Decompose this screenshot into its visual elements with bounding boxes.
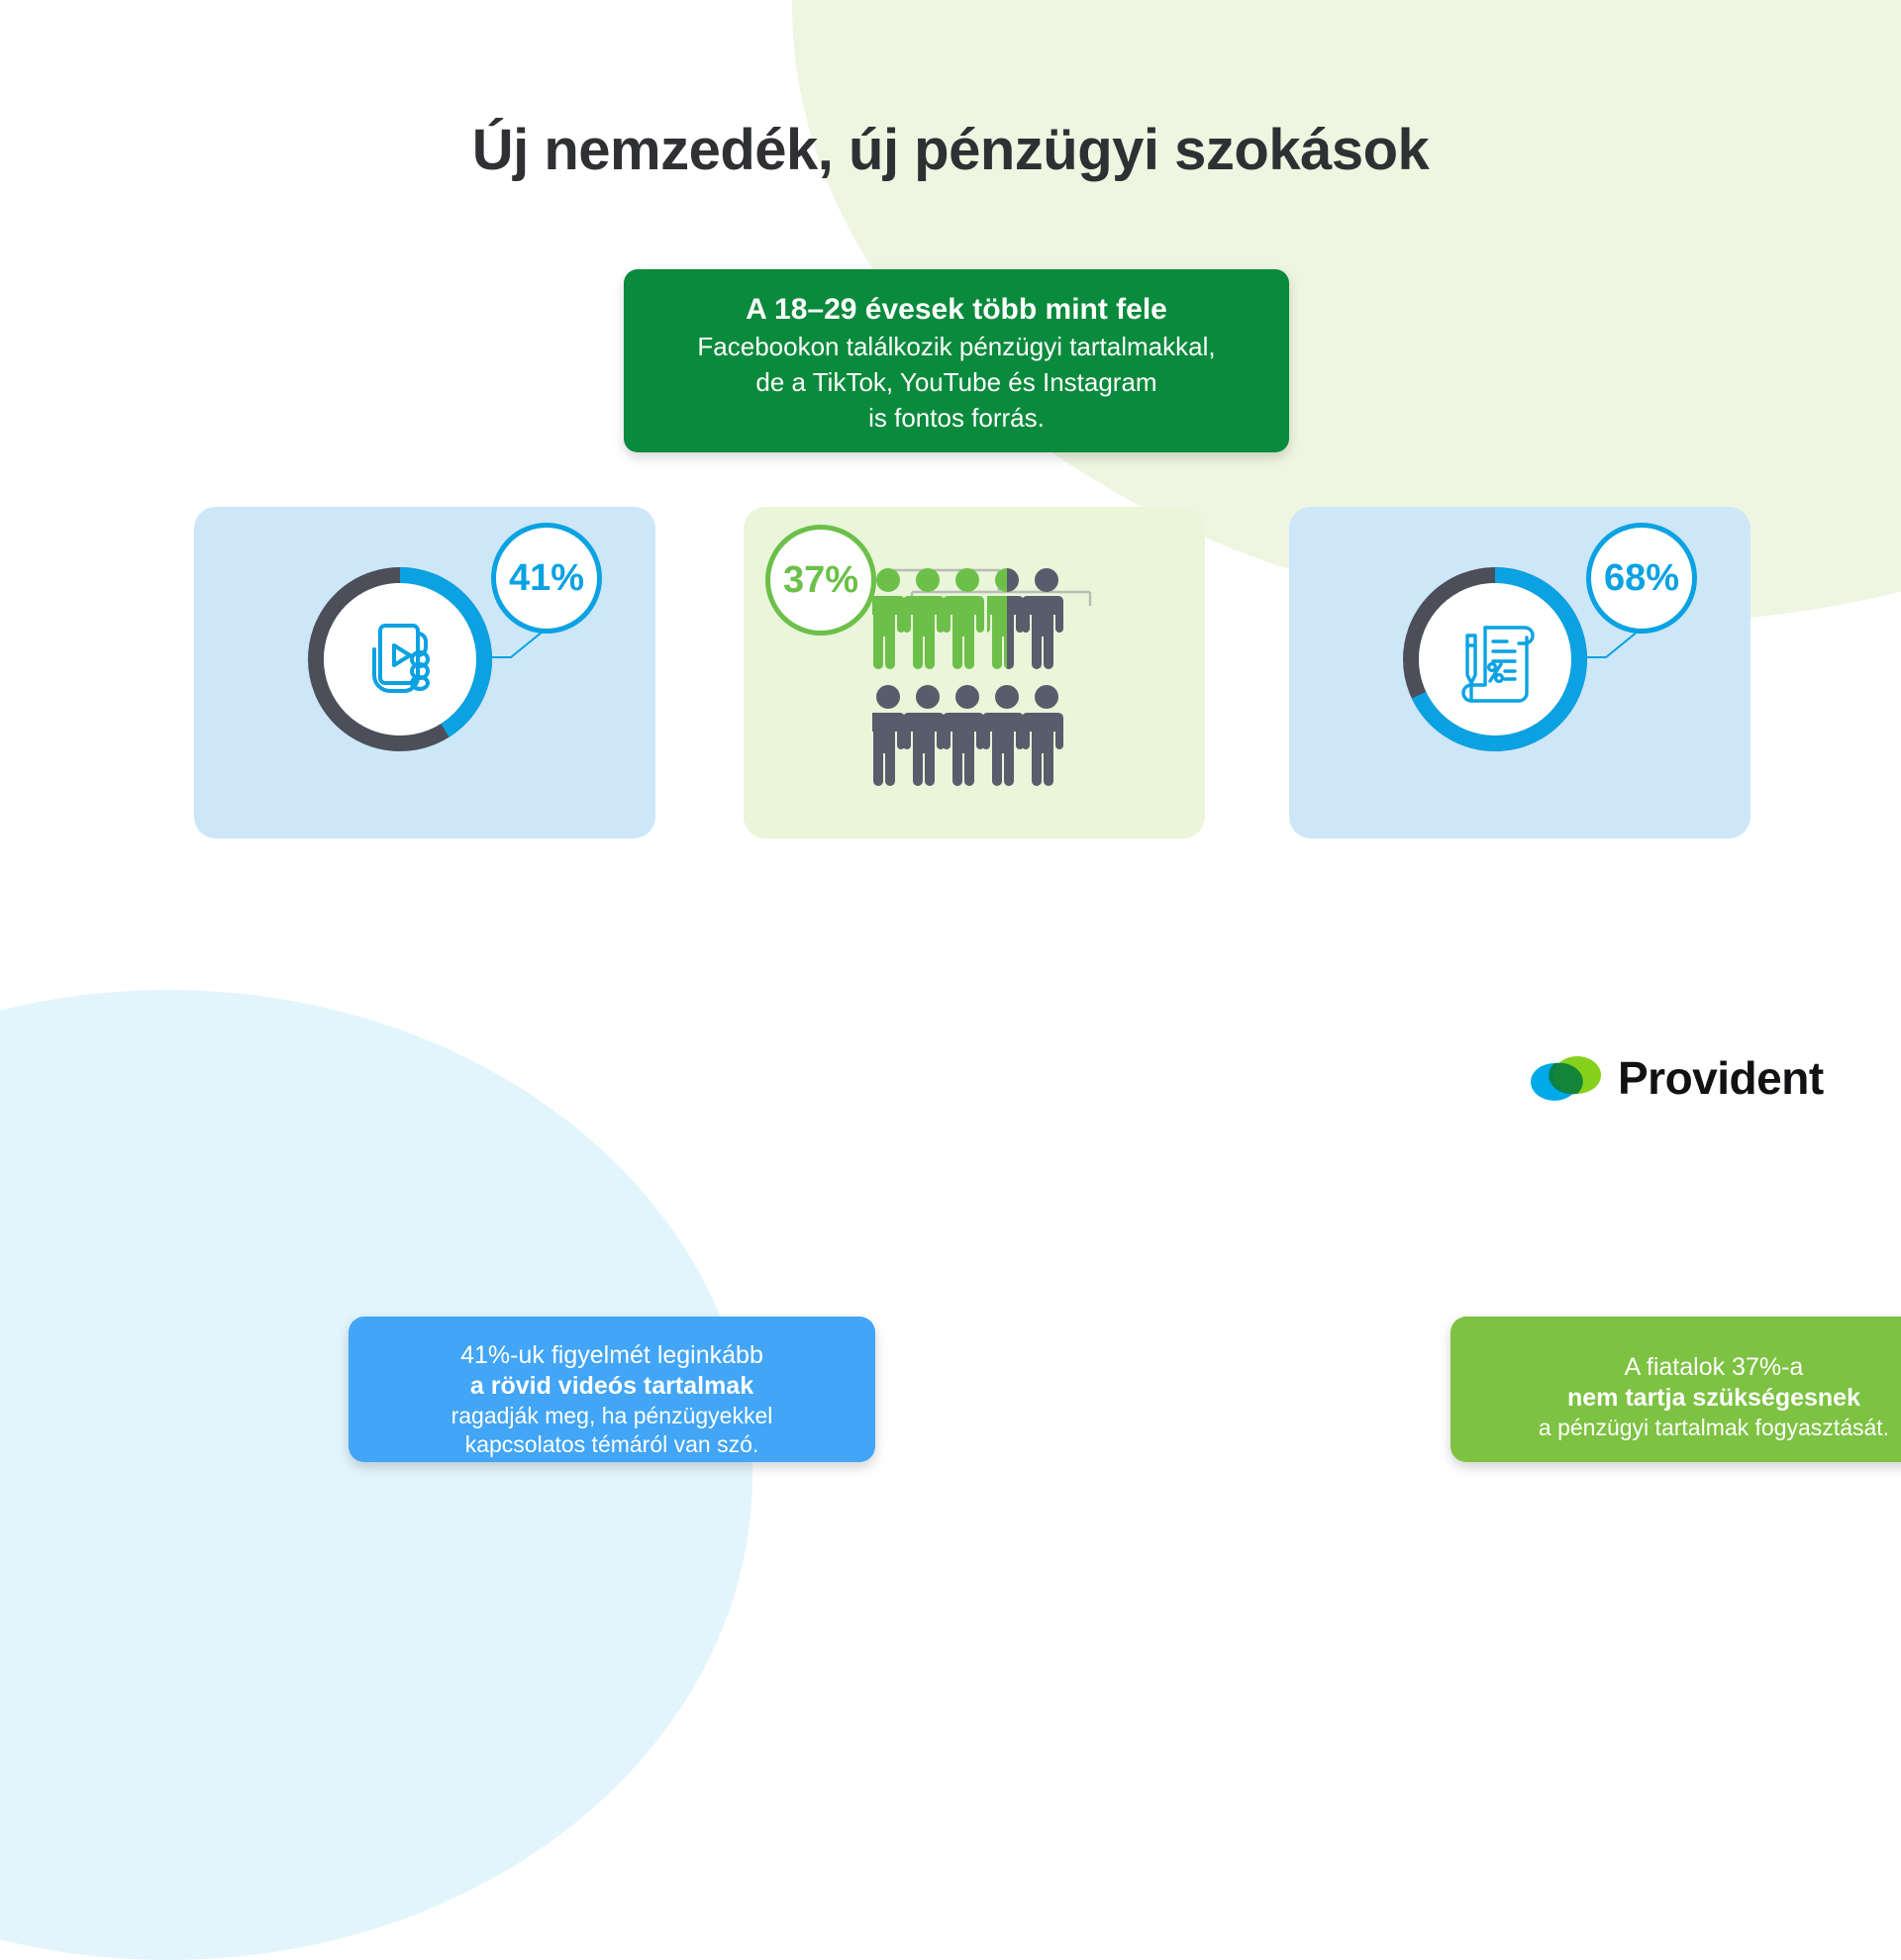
stat-caption-1: 41%-uk figyelmét leginkább a rövid videó…	[349, 1317, 875, 1462]
contract-pen-percent-icon	[1446, 610, 1545, 709]
background-blue-blob	[0, 990, 752, 1960]
banner-subline-2: de a TikTok, YouTube és Instagram	[624, 366, 1289, 400]
caption-line: nem tartja szükségesnek	[1468, 1383, 1901, 1414]
stat-card-3: 68% A fiatalok 68%-a számára a pénzügyi …	[1289, 507, 1751, 838]
hand-holding-phone-play-icon	[350, 610, 450, 709]
infographic-canvas: Új nemzedék, új pénzügyi szokások A 18–2…	[0, 0, 1901, 1178]
stat-panel-2: 37%	[744, 507, 1205, 838]
provident-logo-mark-icon	[1531, 1052, 1602, 1104]
pictogram-svg	[872, 568, 1080, 796]
provident-logo: Provident	[1531, 1051, 1824, 1105]
caption-line: kapcsolatos témáról van szó.	[366, 1430, 857, 1459]
caption-line: 41%-uk figyelmét leginkább	[366, 1340, 857, 1371]
percent-bubble-37: 37%	[765, 525, 876, 636]
banner-subline-3: is fontos forrás.	[624, 402, 1289, 436]
provident-logo-text: Provident	[1618, 1051, 1824, 1105]
banner-subline-1: Facebookon találkozik pénzügyi tartalmak…	[624, 331, 1289, 364]
caption-line: a rövid videós tartalmak	[366, 1371, 857, 1402]
page-title: Új nemzedék, új pénzügyi szokások	[0, 117, 1901, 183]
caption-line: a pénzügyi tartalmak fogyasztását.	[1468, 1414, 1901, 1442]
headline-banner: A 18–29 évesek több mint fele Facebookon…	[624, 269, 1289, 452]
caption-line: ragadják meg, ha pénzügyekkel	[366, 1402, 857, 1430]
donut-chart-68	[1396, 560, 1594, 758]
percent-bubble-41: 41%	[491, 523, 602, 634]
donut-chart-41	[301, 560, 499, 758]
stat-caption-2: A fiatalok 37%-a nem tartja szükségesnek…	[1451, 1317, 1901, 1462]
people-pictogram	[872, 568, 1080, 801]
stat-panel-1: 41%	[194, 507, 655, 838]
banner-headline: A 18–29 évesek több mint fele	[624, 291, 1289, 329]
stat-panel-3: 68%	[1289, 507, 1751, 838]
stat-card-1: 41% 41%-uk figyelmét leginkább a rövid v…	[194, 507, 655, 838]
caption-line: A fiatalok 37%-a	[1468, 1352, 1901, 1383]
stat-card-2: 37% A fiatalok 37%-a nem tartja szüksége…	[744, 507, 1205, 838]
percent-bubble-68: 68%	[1586, 523, 1697, 634]
